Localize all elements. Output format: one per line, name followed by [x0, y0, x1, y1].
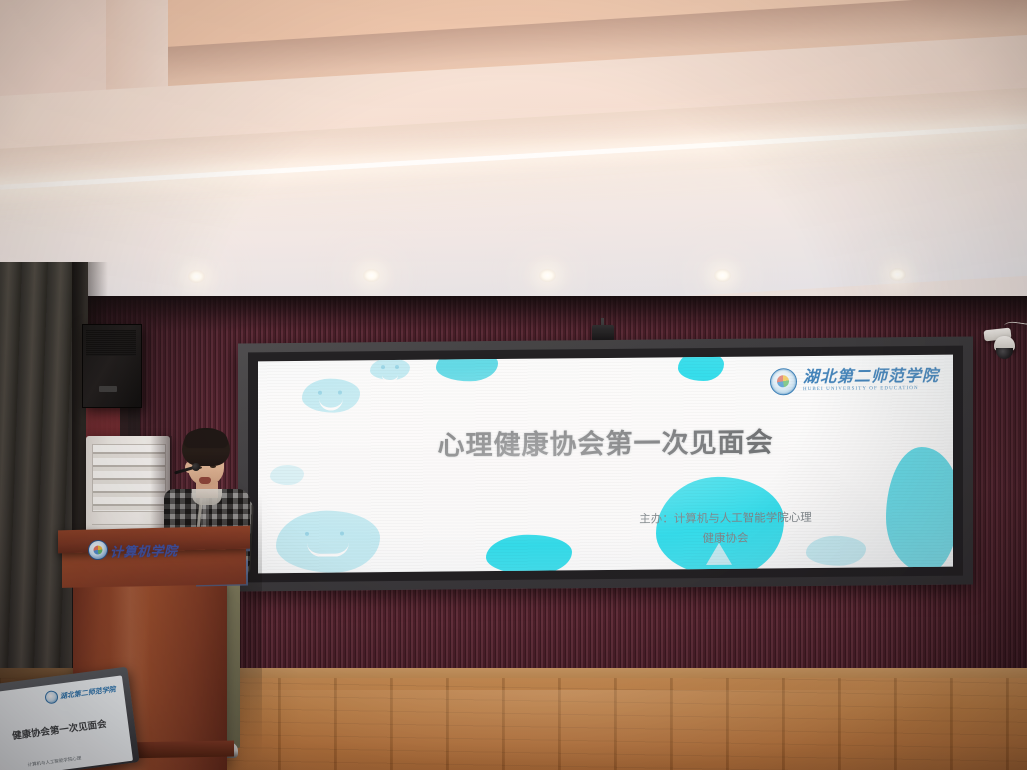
slide-title: 心理健康协会第一次见面会 [258, 419, 953, 465]
slide-university-logo: 湖北第二师范学院 HUBEI UNIVERSITY OF EDUCATION [770, 365, 939, 397]
cyan-blob-top-center [436, 355, 498, 382]
downlight-1-icon [188, 270, 205, 283]
smiley-right-eye-icon [338, 390, 342, 394]
presenter-mouth [199, 477, 211, 484]
smiley-cloud-bottom-left [276, 510, 380, 573]
smiley-face-top-center [370, 358, 410, 380]
downlight-3-icon [539, 269, 556, 282]
smiley-left-eye-icon [381, 366, 385, 370]
laptop-slide-title: 健康协会第一次见面会 [0, 714, 125, 745]
university-name-cn: 湖北第二师范学院 [803, 368, 939, 385]
downlight-5-icon [889, 268, 906, 281]
microphone-head-icon [192, 463, 200, 471]
podium-emblem-text: 计算机学院 [110, 540, 178, 560]
laptop-slide-logo: 湖北第二师范学院 [44, 682, 116, 704]
cyan-blob-bottom-center [486, 534, 572, 573]
presenter-hair-fringe [184, 430, 228, 448]
cyan-blob-right-edge [886, 447, 953, 574]
smiley-left-eye-icon [305, 532, 309, 536]
smiley-mouth-icon [382, 369, 398, 383]
slide-subtitle: 主办：计算机与人工智能学院心理 健康协会 [576, 507, 876, 550]
pale-blob-mid-left [270, 465, 304, 485]
smiley-mouth-icon [307, 543, 349, 557]
lecture-hall-photo: 湖北第二师范学院 HUBEI UNIVERSITY OF EDUCATION 心… [0, 0, 1027, 770]
smiley-cloud-top-left [302, 378, 360, 413]
loudspeaker-badge [99, 386, 117, 392]
smiley-right-eye-icon [395, 365, 399, 369]
led-screen-display: 湖北第二师范学院 HUBEI UNIVERSITY OF EDUCATION 心… [258, 355, 953, 574]
laptop-university-seal-icon [44, 690, 59, 705]
downlight-2-icon [363, 269, 380, 282]
smiley-right-eye-icon [340, 532, 344, 536]
presenter-collar [192, 489, 222, 505]
loudspeaker-grille [86, 330, 136, 356]
smiley-mouth-icon [319, 396, 342, 410]
slide-subtitle-line-2: 健康协会 [576, 527, 876, 550]
cyan-blob-top-right [678, 355, 724, 382]
stage-floor-highlight [250, 690, 950, 770]
university-seal-icon [770, 368, 797, 395]
downlight-4-icon [714, 269, 731, 282]
ceiling-mounted-device [592, 325, 614, 341]
laptop-university-name: 湖北第二师范学院 [59, 684, 116, 701]
laptop-screen[interactable]: 湖北第二师范学院 健康协会第一次见面会 计算机与人工智能学院心理 [0, 675, 133, 770]
university-name-en: HUBEI UNIVERSITY OF EDUCATION [803, 384, 939, 392]
smiley-left-eye-icon [318, 390, 322, 394]
